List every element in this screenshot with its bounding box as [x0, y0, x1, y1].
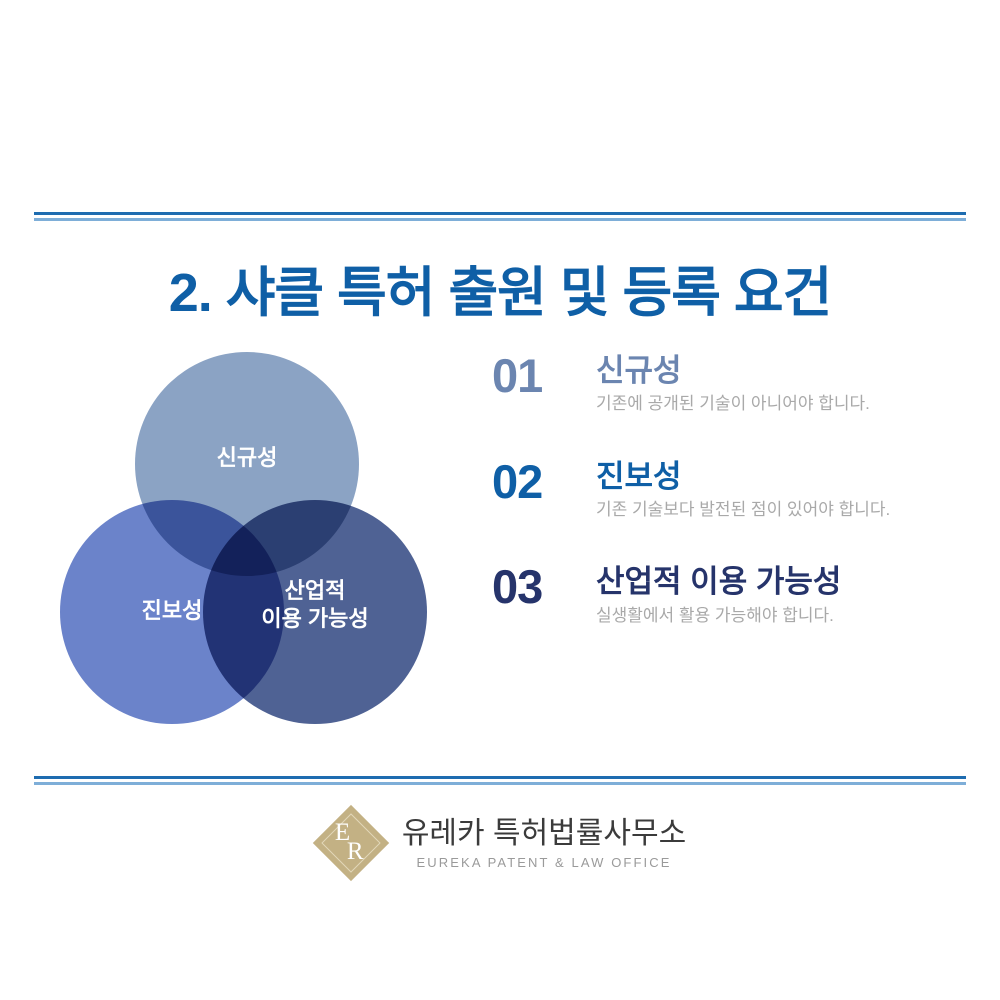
divider-top-thin-line	[34, 218, 966, 221]
firm-name-korean: 유레카 특허법률사무소	[402, 817, 686, 850]
requirement-body-01: 신규성 기존에 공개된 기술이 아니어야 합니다.	[596, 352, 962, 416]
firm-name-english: EUREKA PATENT & LAW OFFICE	[402, 855, 686, 870]
requirement-number-01: 01	[492, 352, 596, 399]
divider-bottom-thin-line	[34, 782, 966, 785]
footer-logo: E R 유레카 특허법률사무소 EUREKA PATENT & LAW OFFI…	[0, 806, 1000, 880]
requirement-item-01: 01 신규성 기존에 공개된 기술이 아니어야 합니다.	[492, 352, 962, 416]
requirement-heading-03: 산업적 이용 가능성	[596, 565, 962, 598]
logo-letter-r: R	[347, 839, 364, 864]
requirement-description-02: 기존 기술보다 발전된 점이 있어야 합니다.	[596, 499, 962, 521]
requirement-description-03: 실생활에서 활용 가능해야 합니다.	[596, 605, 962, 627]
venn-label-novelty: 신규성	[135, 444, 359, 472]
divider-bottom	[34, 776, 966, 785]
venn-label-industrial-line2: 이용 가능성	[203, 605, 427, 633]
requirement-body-02: 진보성 기존 기술보다 발전된 점이 있어야 합니다.	[596, 458, 962, 522]
requirement-description-01: 기존에 공개된 기술이 아니어야 합니다.	[596, 393, 962, 415]
venn-label-industrial-applicability: 산업적 이용 가능성	[203, 577, 427, 633]
requirement-number-03: 03	[492, 563, 596, 610]
venn-diagram: 신규성 진보성 산업적 이용 가능성	[55, 352, 445, 742]
logo-monogram: E R	[314, 806, 388, 880]
slide-canvas: 2. 샤클 특허 출원 및 등록 요건 신규성 진보성 산업적 이용 가능성 0…	[0, 0, 1000, 1000]
requirement-heading-02: 진보성	[596, 460, 962, 493]
requirement-heading-01: 신규성	[596, 354, 962, 387]
requirement-item-02: 02 진보성 기존 기술보다 발전된 점이 있어야 합니다.	[492, 458, 962, 522]
divider-top	[34, 212, 966, 221]
eureka-diamond-icon: E R	[314, 806, 388, 880]
requirement-item-03: 03 산업적 이용 가능성 실생활에서 활용 가능해야 합니다.	[492, 563, 962, 627]
divider-bottom-thick-line	[34, 776, 966, 779]
requirement-body-03: 산업적 이용 가능성 실생활에서 활용 가능해야 합니다.	[596, 563, 962, 627]
requirement-number-02: 02	[492, 458, 596, 505]
page-title: 2. 샤클 특허 출원 및 등록 요건	[0, 248, 1000, 327]
divider-top-thick-line	[34, 212, 966, 215]
logo-wordmark: 유레카 특허법률사무소 EUREKA PATENT & LAW OFFICE	[402, 817, 686, 870]
requirement-list: 01 신규성 기존에 공개된 기술이 아니어야 합니다. 02 진보성 기존 기…	[492, 352, 962, 669]
venn-label-industrial-line1: 산업적	[203, 577, 427, 605]
